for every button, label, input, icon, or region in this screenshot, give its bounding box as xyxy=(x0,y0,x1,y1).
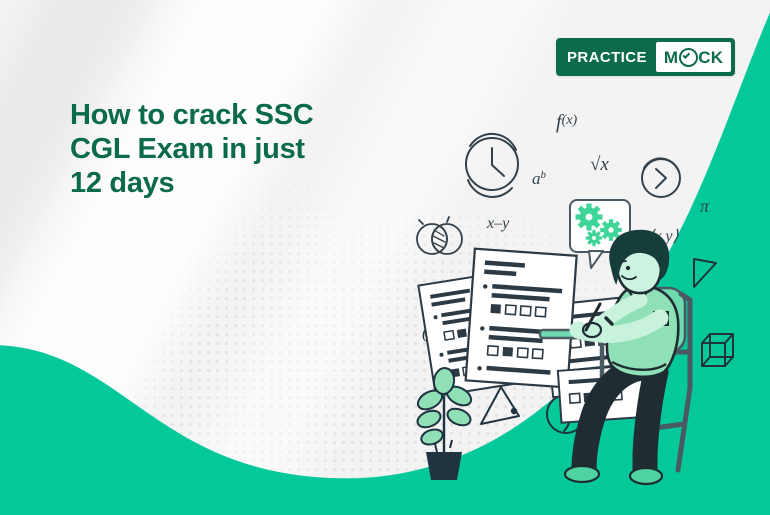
triangle-doodle xyxy=(481,387,519,424)
math-symbol-x-minus-y: x–y xyxy=(486,215,510,232)
logo-word-practice: PRACTICE xyxy=(560,42,656,72)
logo-letter-m: M xyxy=(664,49,678,66)
venn-diagram-doodle xyxy=(417,217,462,254)
promo-banner: f(x) ab √x π x–y ⟨x,y⟩ x2 (a,b) xyxy=(0,0,770,515)
math-symbol-fx: f(x) xyxy=(556,111,577,133)
logo-word-mock: M CK xyxy=(656,42,731,72)
chevron-right-circle-doodle xyxy=(642,158,680,197)
banner-artwork: f(x) ab √x π x–y ⟨x,y⟩ x2 (a,b) xyxy=(0,0,770,515)
math-symbol-ab: ab xyxy=(532,169,547,188)
math-symbol-sqrtx: √x xyxy=(590,154,609,175)
checkmark-in-circle-icon xyxy=(679,48,698,67)
logo-letters-ck: CK xyxy=(698,49,723,66)
math-symbol-pi: π xyxy=(700,196,710,216)
clock-doodle xyxy=(466,134,518,197)
page-title: How to crack SSC CGL Exam in just 12 day… xyxy=(70,98,400,200)
practicemock-logo[interactable]: PRACTICE M CK xyxy=(556,38,735,76)
